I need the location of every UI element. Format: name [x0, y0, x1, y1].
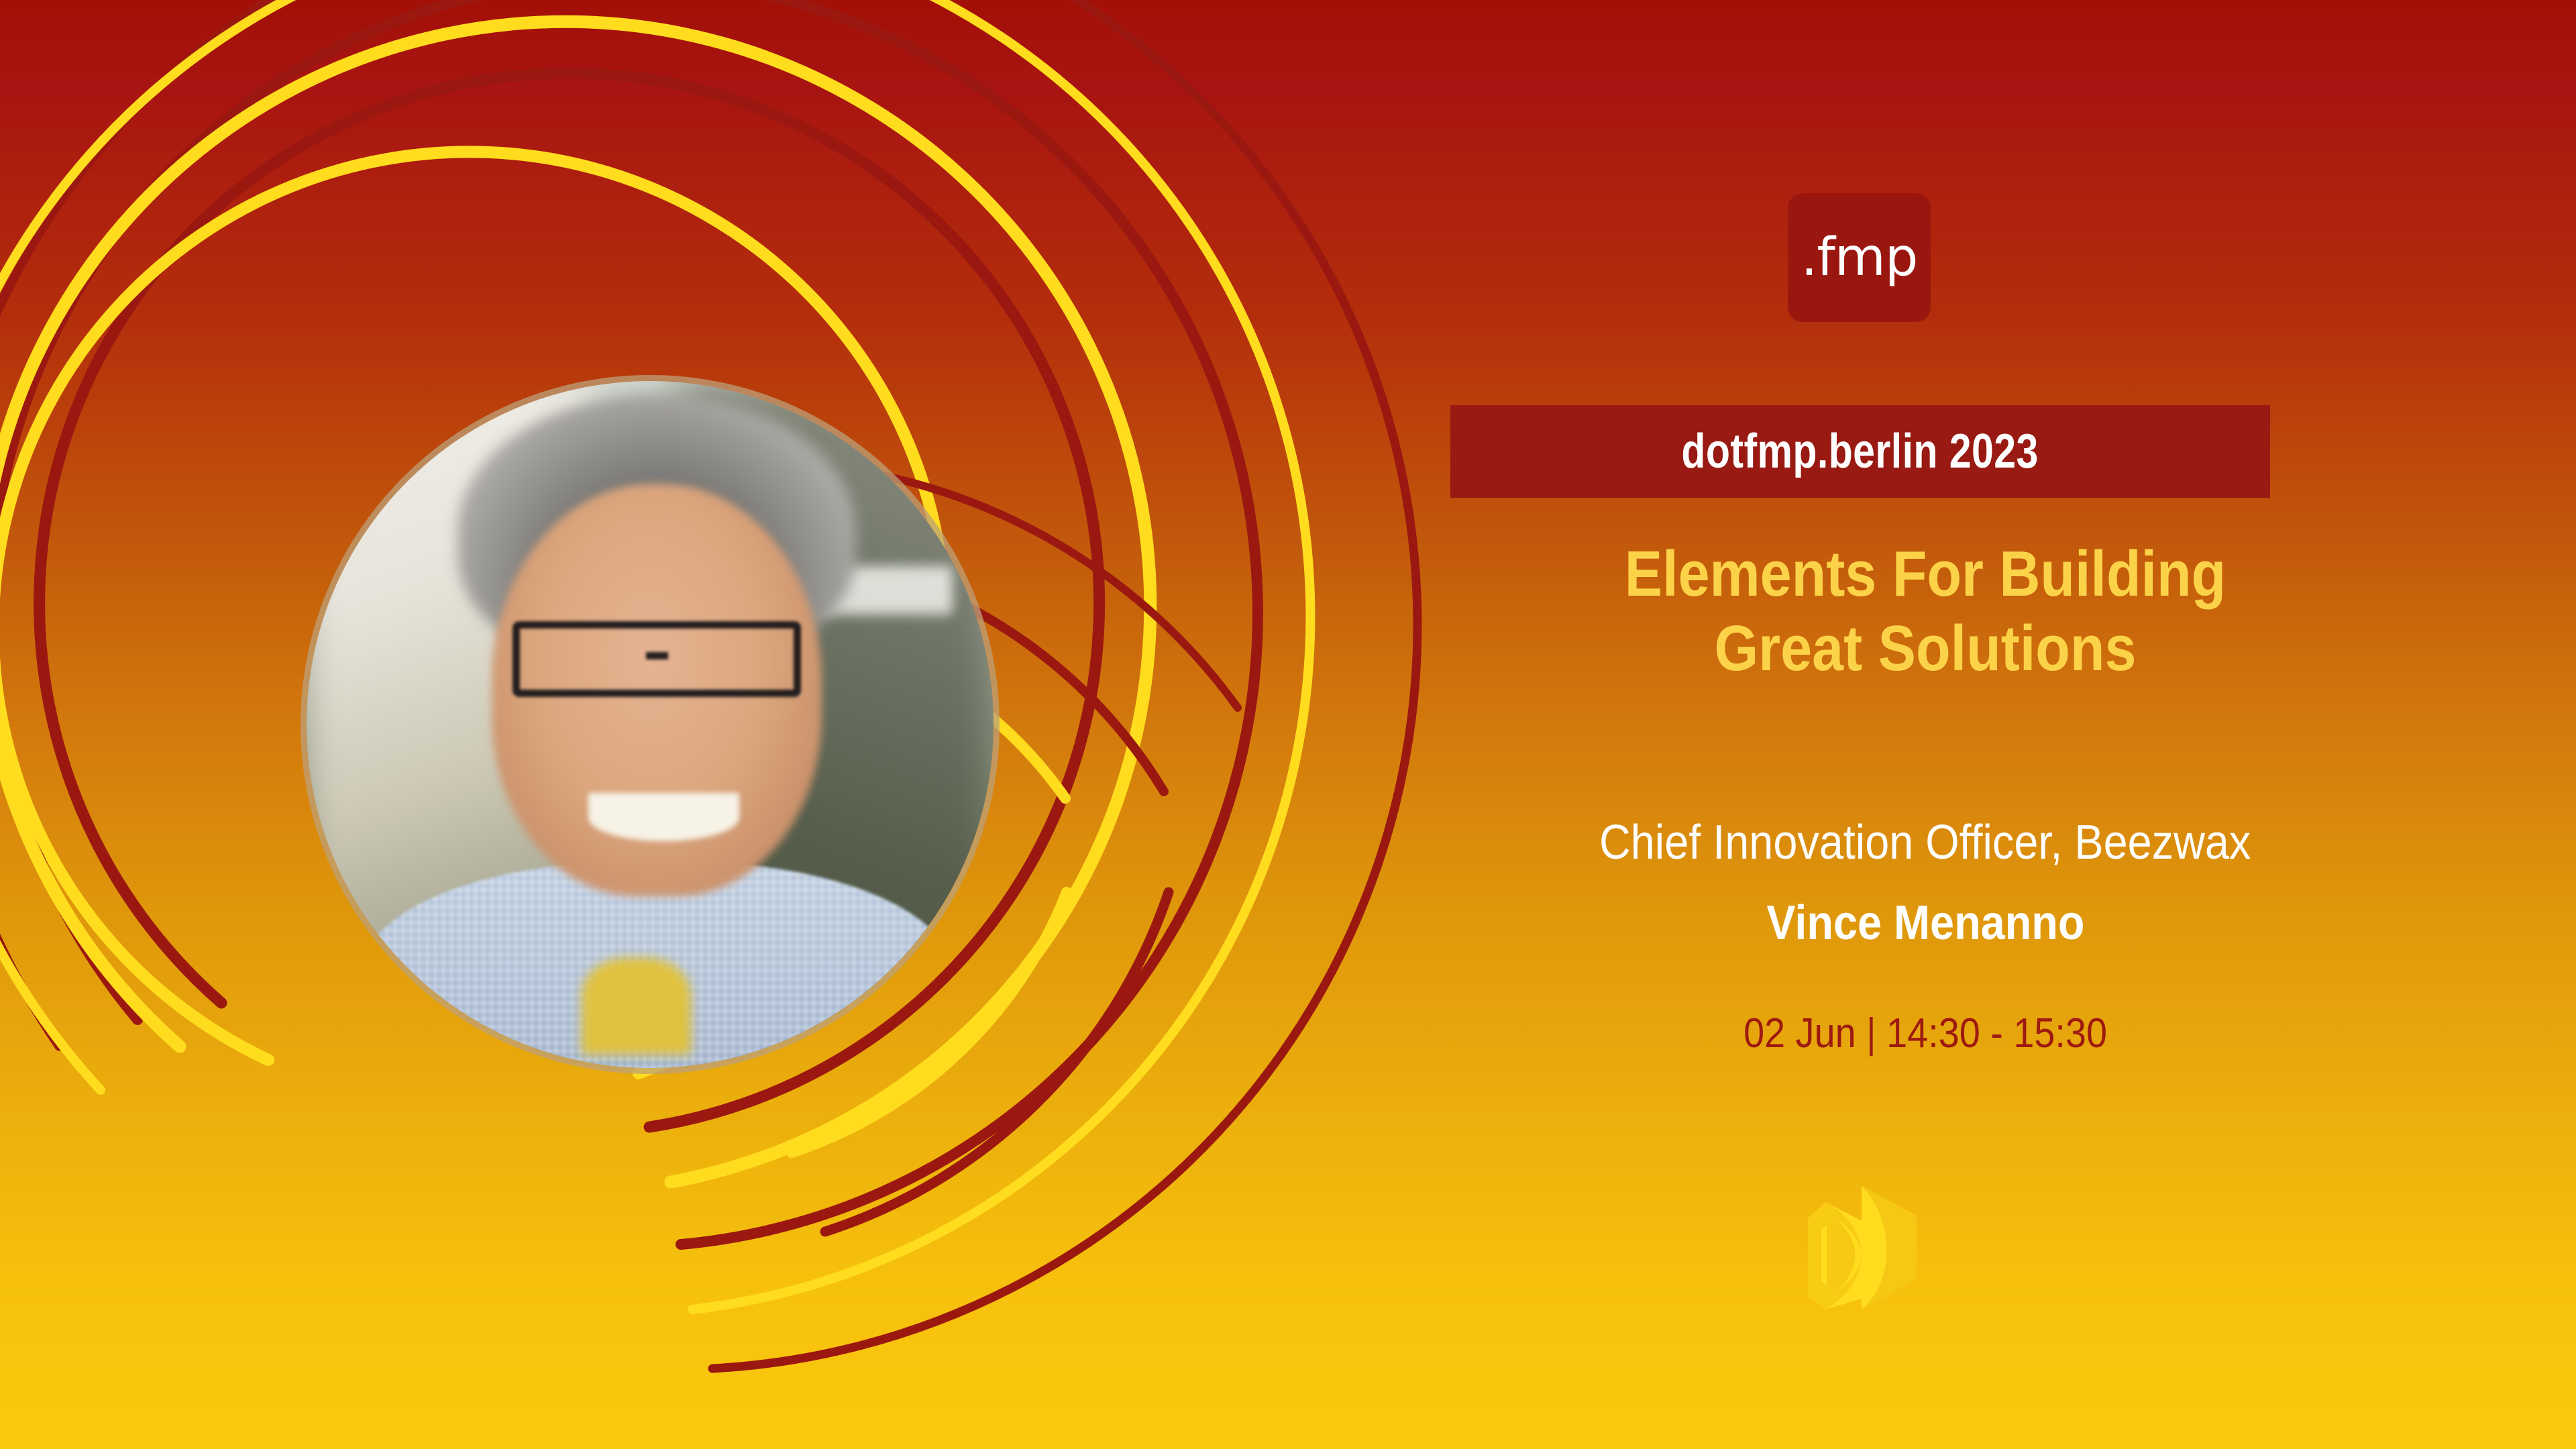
speaker-portrait-image — [307, 381, 994, 1068]
speaker-role-text: Chief Innovation Officer, Beezwax — [1599, 815, 2251, 870]
talk-schedule-text: 02 Jun | 14:30 - 15:30 — [1743, 1010, 2107, 1057]
speaker-role: Chief Innovation Officer, Beezwax — [1362, 815, 2489, 870]
talk-title-line-2: Great Solutions — [1430, 611, 2421, 686]
dotfmp-logo-text: .fmp — [1801, 231, 1918, 284]
event-badge-label: dotfmp.berlin 2023 — [1682, 424, 2039, 479]
speaker-announcement-poster: .fmp dotfmp.berlin 2023 Elements For Bui… — [0, 0, 2576, 1449]
speaker-name-text: Vince Menanno — [1766, 896, 2084, 951]
portrait-collar — [582, 958, 692, 1054]
dotfmp-logo: .fmp — [1788, 193, 1931, 322]
portrait-smile — [588, 793, 739, 841]
speaker-portrait — [307, 381, 994, 1068]
portrait-glasses — [513, 621, 801, 697]
talk-title-line-1: Elements For Building — [1430, 537, 2421, 611]
poster-content-column: .fmp dotfmp.berlin 2023 Elements For Bui… — [1362, 0, 2489, 1449]
beezwax-hex-logo — [1794, 1181, 1929, 1315]
speaker-name: Vince Menanno — [1362, 896, 2489, 951]
talk-schedule: 02 Jun | 14:30 - 15:30 — [1362, 1010, 2489, 1057]
event-badge: dotfmp.berlin 2023 — [1450, 405, 2270, 498]
talk-title: Elements For Building Great Solutions — [1362, 537, 2489, 686]
